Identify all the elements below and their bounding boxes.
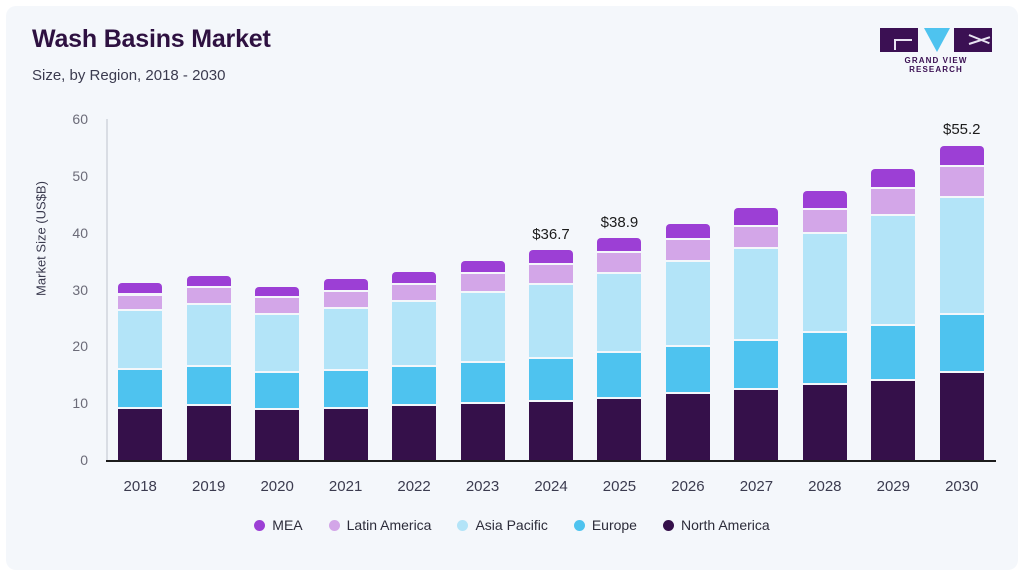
bar-segment-asia-pacific[interactable] [871,214,915,324]
bar-segment-latin-america[interactable] [187,286,231,302]
bar-segment-europe[interactable] [118,368,162,407]
bar-column[interactable] [666,224,710,460]
bar-segment-latin-america[interactable] [529,263,573,283]
bar-segment-north-america[interactable] [940,371,984,460]
bar-segment-mea[interactable] [392,272,436,282]
bar-segment-mea[interactable] [803,191,847,207]
bar-segment-north-america[interactable] [118,407,162,460]
bar-column[interactable] [461,261,505,460]
bar-column[interactable] [529,251,573,460]
bar-segment-mea[interactable] [324,279,368,289]
chart-card: Wash Basins Market Size, by Region, 2018… [6,6,1018,570]
bar-segment-mea[interactable] [118,283,162,293]
bar-segment-europe[interactable] [666,345,710,393]
bar-segment-latin-america[interactable] [734,225,778,247]
bar-segment-asia-pacific[interactable] [940,196,984,314]
bar-segment-europe[interactable] [324,369,368,407]
bar-segment-mea[interactable] [187,276,231,286]
bar-column[interactable] [392,272,436,460]
bar-column[interactable] [940,146,984,460]
bar-segment-mea[interactable] [871,169,915,187]
bar-segment-mea[interactable] [529,250,573,263]
bar-column[interactable] [803,191,847,460]
legend-item-europe[interactable]: Europe [574,517,637,533]
bar-segment-latin-america[interactable] [118,294,162,310]
y-axis-tick-label: 60 [52,111,88,127]
legend-swatch-icon [254,520,265,531]
legend-label: Latin America [347,517,432,533]
legend-item-asia-pacific[interactable]: Asia Pacific [457,517,547,533]
bar-segment-asia-pacific[interactable] [392,300,436,365]
bar-segment-north-america[interactable] [392,404,436,460]
bar-column[interactable] [118,283,162,460]
bar-segment-north-america[interactable] [255,408,299,460]
y-axis-tick-label: 30 [52,282,88,298]
bar-segment-asia-pacific[interactable] [597,272,641,351]
bar-segment-north-america[interactable] [734,388,778,460]
bar-segment-north-america[interactable] [187,404,231,460]
legend-label: North America [681,517,770,533]
legend-label: MEA [272,517,302,533]
bar-segment-latin-america[interactable] [803,208,847,232]
bar-segment-europe[interactable] [529,357,573,401]
bar-segment-north-america[interactable] [324,407,368,460]
chart-legend: MEALatin AmericaAsia PacificEuropeNorth … [6,517,1018,533]
bar-column[interactable] [255,287,299,460]
y-axis-tick-label: 0 [52,452,88,468]
legend-item-north-america[interactable]: North America [663,517,770,533]
bar-segment-asia-pacific[interactable] [324,307,368,369]
bar-segment-latin-america[interactable] [392,283,436,300]
bar-value-label: $38.9 [574,214,664,231]
bar-segment-asia-pacific[interactable] [118,309,162,368]
bar-segment-asia-pacific[interactable] [529,283,573,357]
bar-segment-latin-america[interactable] [255,296,299,313]
bar-segment-north-america[interactable] [597,397,641,460]
legend-label: Europe [592,517,637,533]
bar-segment-latin-america[interactable] [666,238,710,260]
bar-segment-asia-pacific[interactable] [255,313,299,370]
bar-segment-europe[interactable] [803,331,847,383]
y-axis-label: Market Size (US$B) [34,149,49,329]
bar-segment-north-america[interactable] [461,402,505,460]
x-axis-line [106,460,996,462]
legend-item-latin-america[interactable]: Latin America [329,517,432,533]
bar-group: $36.7$38.9$55.2 [106,119,996,460]
bar-segment-mea[interactable] [255,287,299,297]
x-axis-tick-label: 2030 [922,478,1002,495]
y-axis-tick-label: 40 [52,225,88,241]
y-axis-tick-label: 10 [52,395,88,411]
bar-segment-north-america[interactable] [803,383,847,460]
bar-segment-europe[interactable] [187,365,231,405]
bar-column[interactable] [597,239,641,460]
bar-value-label: $55.2 [917,121,1007,138]
bar-segment-latin-america[interactable] [461,272,505,290]
bar-segment-asia-pacific[interactable] [666,260,710,345]
bar-column[interactable] [324,279,368,460]
bar-segment-mea[interactable] [666,224,710,239]
bar-segment-north-america[interactable] [529,400,573,460]
bar-segment-europe[interactable] [734,339,778,388]
plot-area: Market Size (US$B) 0102030405060 $36.7$3… [6,6,1018,570]
y-axis-tick-label: 20 [52,338,88,354]
bar-column[interactable] [187,276,231,460]
bar-segment-latin-america[interactable] [324,290,368,307]
bar-segment-europe[interactable] [461,361,505,402]
y-axis-tick-label: 50 [52,168,88,184]
legend-label: Asia Pacific [475,517,547,533]
legend-swatch-icon [663,520,674,531]
bar-column[interactable] [734,208,778,460]
bar-segment-asia-pacific[interactable] [461,291,505,361]
bar-segment-europe[interactable] [871,324,915,380]
bar-segment-mea[interactable] [734,208,778,226]
legend-swatch-icon [457,520,468,531]
bar-segment-mea[interactable] [940,146,984,165]
bar-segment-north-america[interactable] [666,392,710,460]
bar-segment-europe[interactable] [597,351,641,397]
bar-segment-latin-america[interactable] [871,187,915,214]
legend-swatch-icon [574,520,585,531]
bar-segment-europe[interactable] [940,313,984,370]
bar-segment-europe[interactable] [392,365,436,404]
bar-segment-asia-pacific[interactable] [187,303,231,365]
bar-segment-mea[interactable] [461,261,505,272]
bar-segment-latin-america[interactable] [940,165,984,196]
legend-swatch-icon [329,520,340,531]
legend-item-mea[interactable]: MEA [254,517,302,533]
bar-segment-europe[interactable] [255,371,299,409]
bar-segment-north-america[interactable] [871,379,915,460]
bar-segment-mea[interactable] [597,238,641,251]
bar-segment-asia-pacific[interactable] [734,247,778,339]
bar-column[interactable] [871,169,915,460]
bar-segment-asia-pacific[interactable] [803,232,847,331]
bar-segment-latin-america[interactable] [597,251,641,272]
